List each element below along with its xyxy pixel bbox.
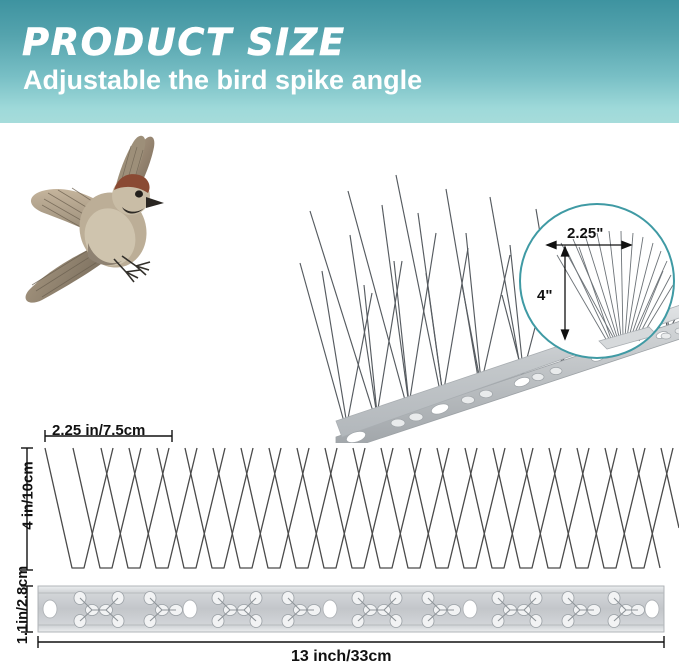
side-spike-wires [45,448,679,568]
side-view-diagram [0,422,679,582]
product-photo-area: 2.25" 4" [0,123,679,428]
header-banner: PRODUCT SIZE Adjustable the bird spike a… [0,0,679,123]
closeup-detail-circle: 2.25" 4" [519,203,675,359]
inset-width-label: 2.25" [567,225,603,242]
inset-height-dimension [562,247,569,339]
product-size-infographic: PRODUCT SIZE Adjustable the bird spike a… [0,0,679,670]
inset-spike-wires [557,231,673,341]
top-length-dimension [38,636,664,648]
inset-height-label: 4" [537,287,552,304]
side-height-label: 4 in/10cm [20,436,37,556]
side-width-label: 2.25 in/7.5cm [52,422,145,439]
top-height-label: 1.1in/2.8cm [15,550,31,660]
top-length-label: 13 inch/33cm [291,648,392,666]
page-title: PRODUCT SIZE [22,24,346,61]
base-strip-topview [38,586,664,632]
page-subtitle: Adjustable the bird spike angle [23,67,422,94]
